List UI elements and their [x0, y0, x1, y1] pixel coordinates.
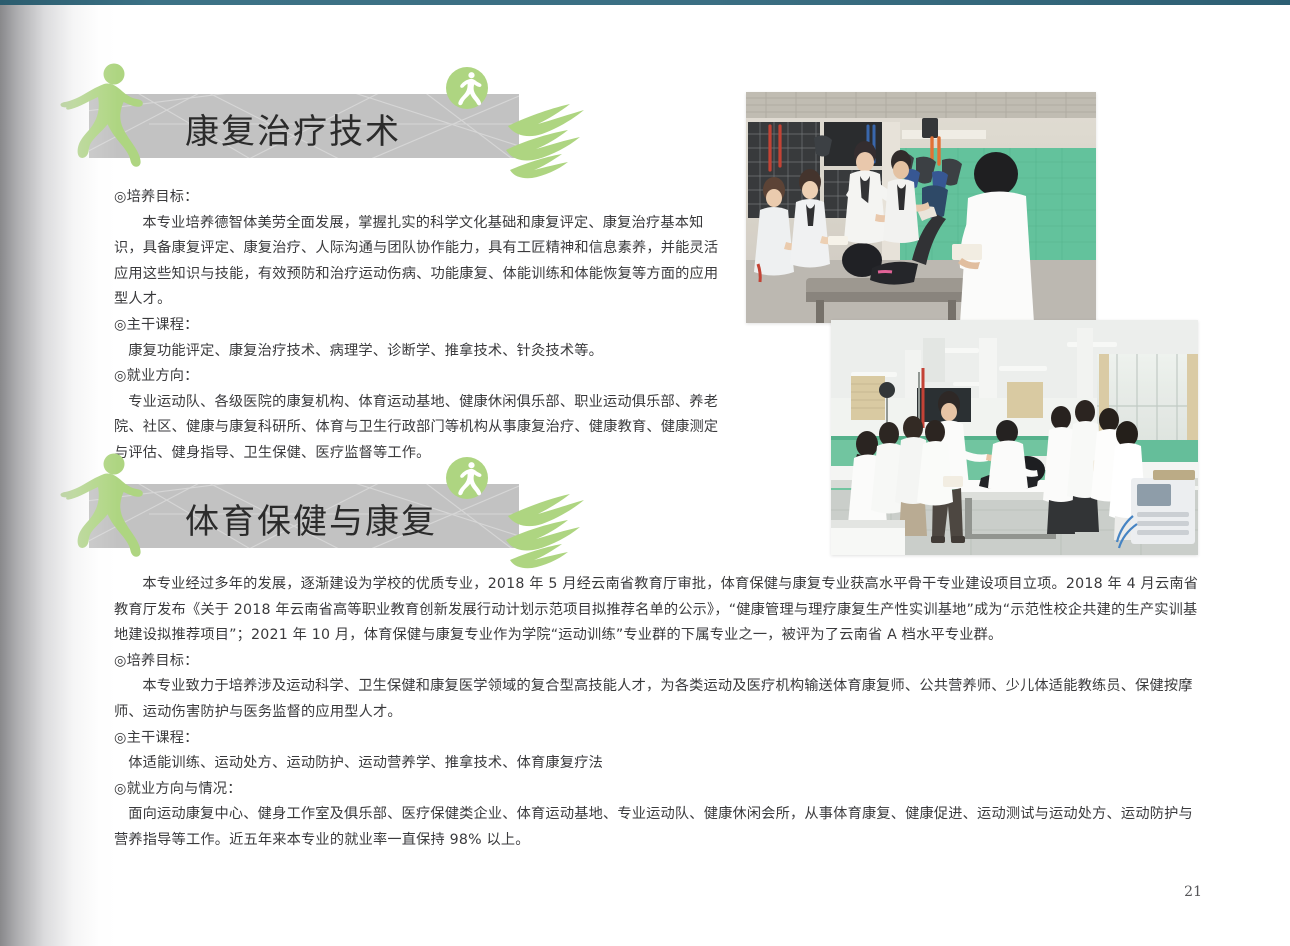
- heading-core-courses-1: ◎主干课程：: [114, 313, 724, 339]
- athlete-silhouette-icon: [60, 450, 180, 562]
- physiotherapy-ward-practice-photo: [831, 320, 1198, 555]
- section-body-2: 本专业经过多年的发展，逐渐建设为学校的优质专业，2018 年 5 月经云南省教育…: [114, 572, 1204, 854]
- paragraph-training-goal-1: 本专业培养德智体美劳全面发展，掌握扎实的科学文化基础和康复评定、康复治疗基本知识…: [114, 211, 724, 313]
- running-figure-icon: [441, 62, 493, 114]
- section-banner-1: 康复治疗技术: [60, 60, 580, 185]
- heading-core-courses-2: ◎主干课程：: [114, 726, 1204, 752]
- section-title-2: 体育保健与康复: [185, 494, 437, 543]
- brochure-page: 康复治疗技术 ◎培养目标： 本专业培养德智体美劳全面发展，掌握扎实的科学文: [0, 0, 1290, 946]
- paragraph-career-direction-2: 面向运动康复中心、健身工作室及俱乐部、医疗保健类企业、体育运动基地、专业运动队、…: [114, 802, 1204, 853]
- running-figure-icon: [441, 452, 493, 504]
- paragraph-program-history-2: 本专业经过多年的发展，逐渐建设为学校的优质专业，2018 年 5 月经云南省教育…: [114, 572, 1204, 649]
- section-title-1: 康复治疗技术: [185, 104, 401, 153]
- heading-career-direction-1: ◎就业方向：: [114, 364, 724, 390]
- paragraph-core-courses-1: 康复功能评定、康复治疗技术、病理学、诊断学、推拿技术、针灸技术等。: [114, 339, 724, 365]
- athlete-silhouette-icon: [60, 60, 180, 172]
- heading-career-direction-2: ◎就业方向与情况：: [114, 777, 1204, 803]
- page-number: 21: [1184, 884, 1202, 900]
- section-body-1: ◎培养目标： 本专业培养德智体美劳全面发展，掌握扎实的科学文化基础和康复评定、康…: [114, 185, 724, 467]
- section-banner-2: 体育保健与康复: [60, 450, 580, 575]
- leaf-flourish-decoration: [504, 98, 616, 180]
- rehabilitation-training-room-photo: [746, 92, 1096, 323]
- heading-training-goal-1: ◎培养目标：: [114, 185, 724, 211]
- paragraph-core-courses-2: 体适能训练、运动处方、运动防护、运动营养学、推拿技术、体育康复疗法: [114, 751, 1204, 777]
- leaf-flourish-decoration: [504, 488, 616, 570]
- top-rule-divider: [0, 0, 1290, 5]
- heading-training-goal-2: ◎培养目标：: [114, 649, 1204, 675]
- paragraph-training-goal-2: 本专业致力于培养涉及运动科学、卫生保健和康复医学领域的复合型高技能人才，为各类运…: [114, 674, 1204, 725]
